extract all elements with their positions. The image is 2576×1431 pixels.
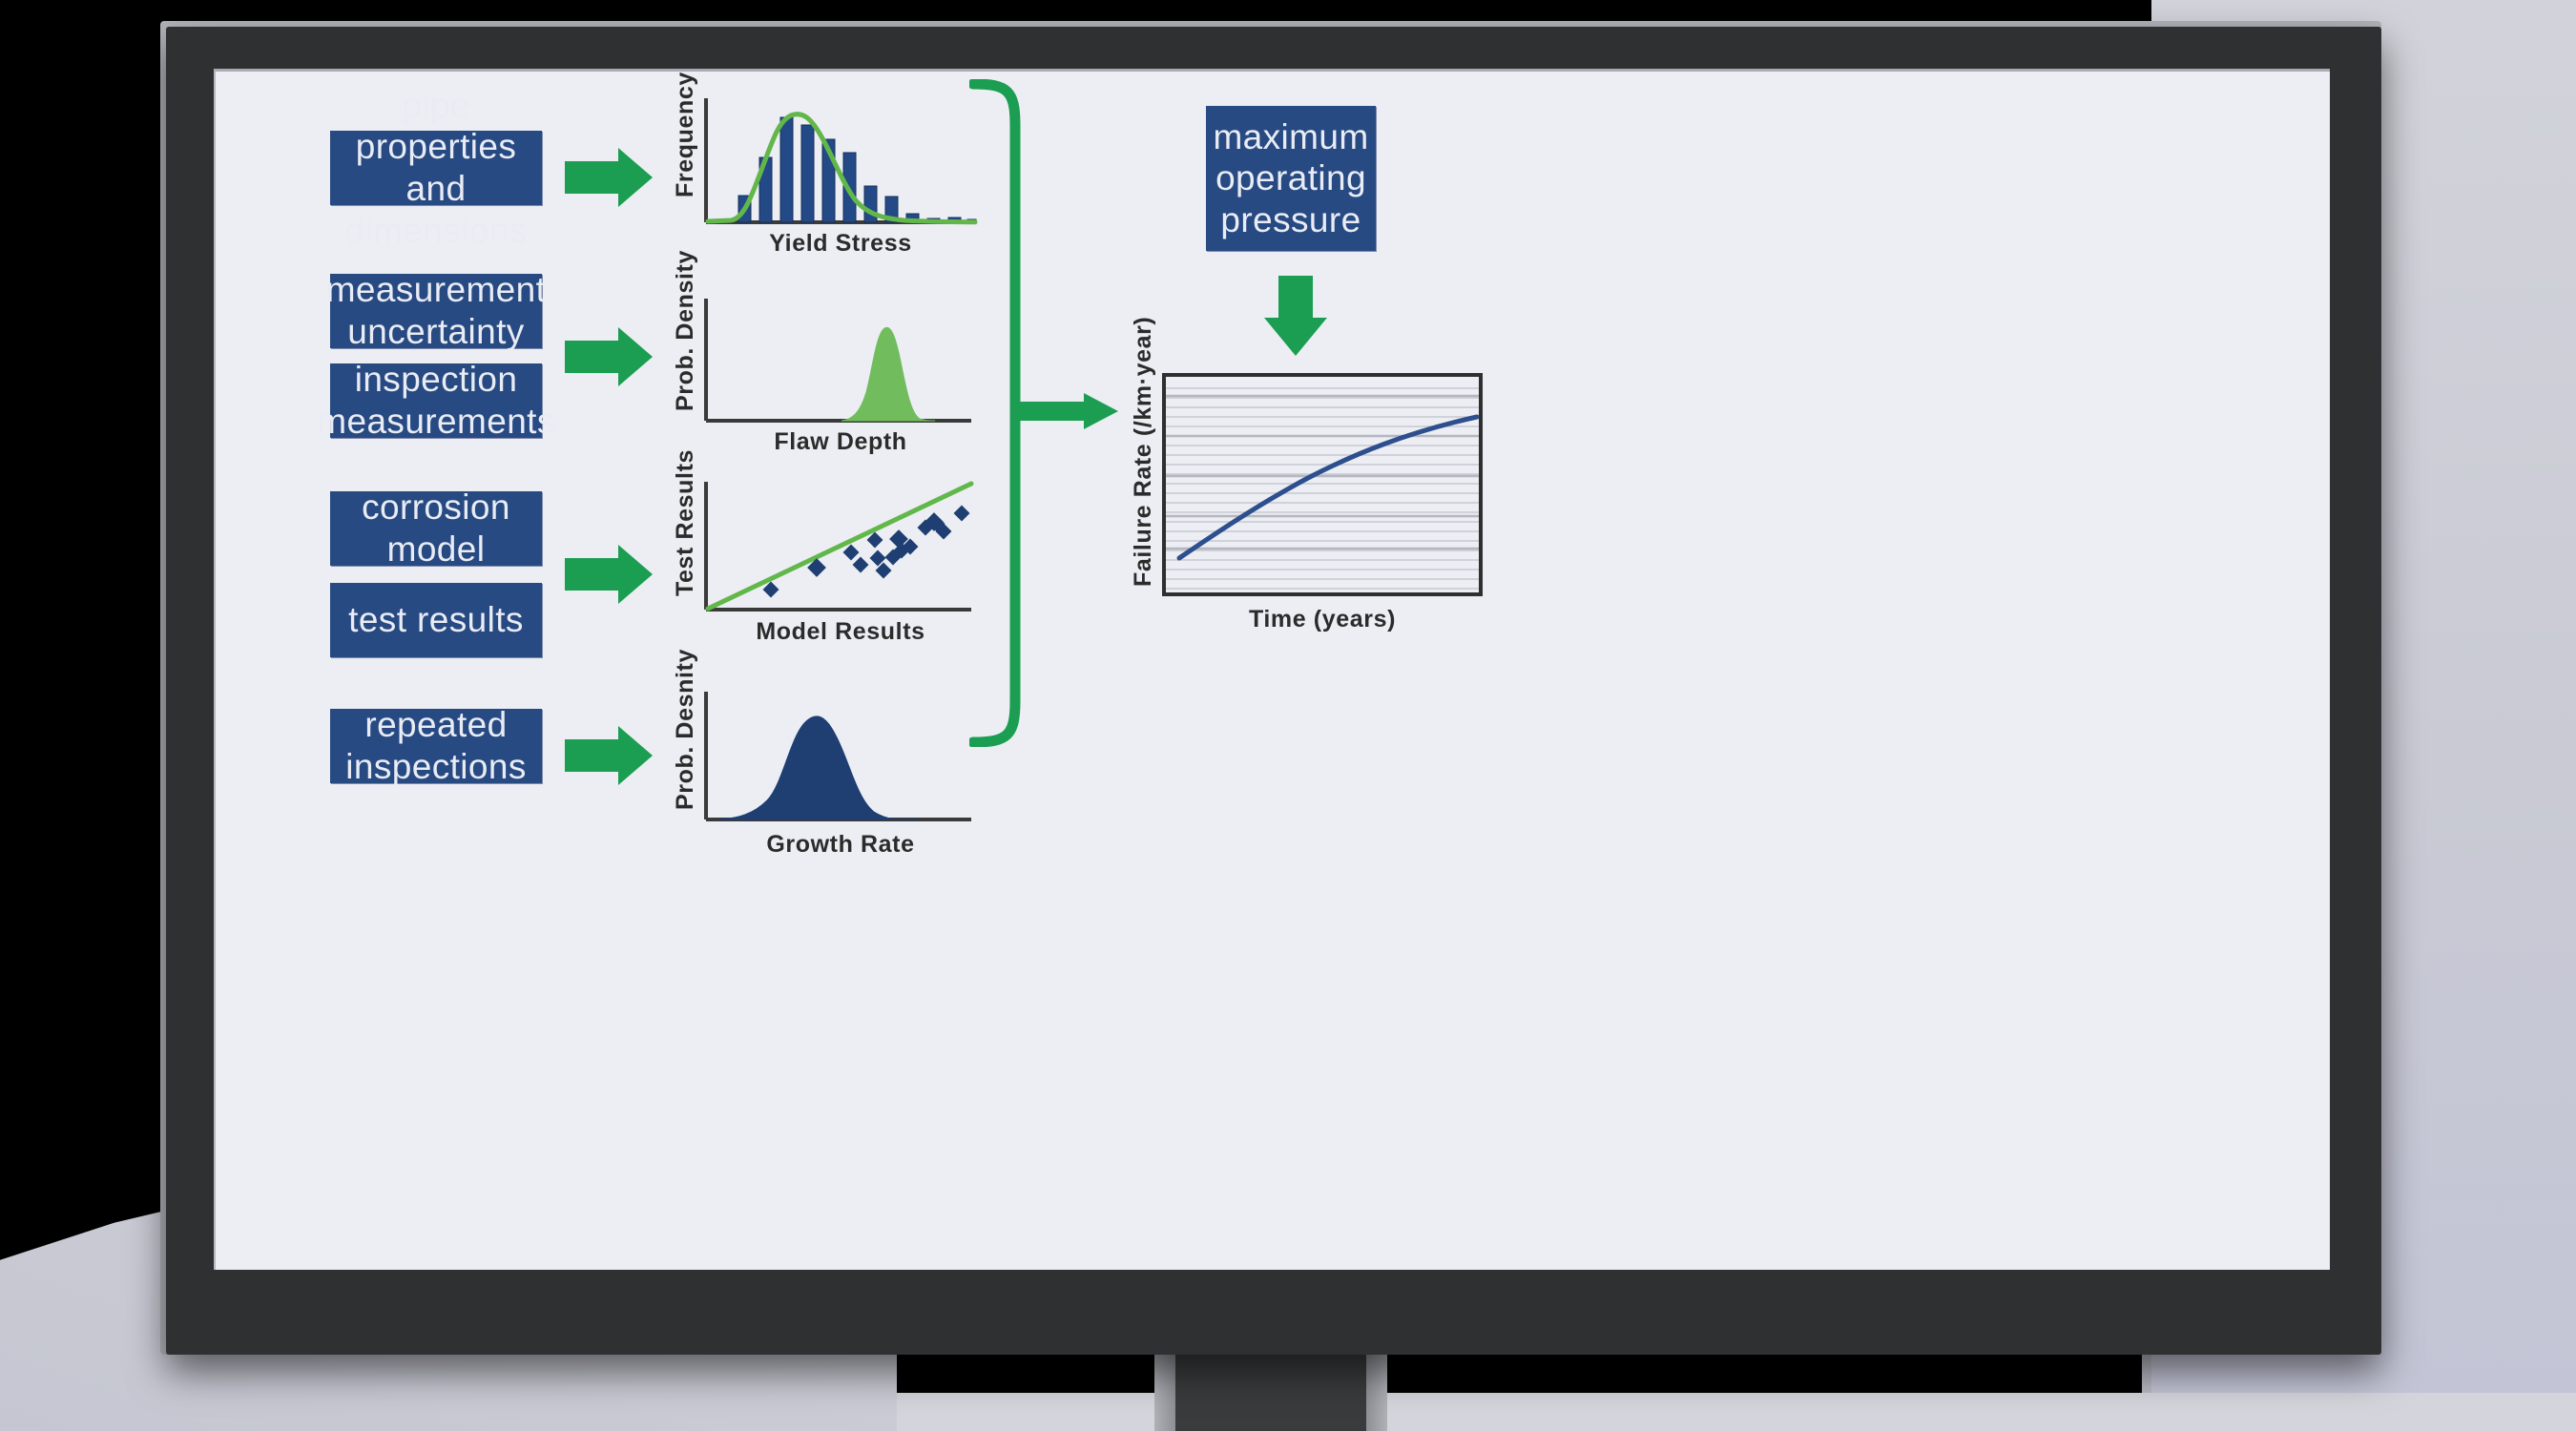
input-box-test-results[interactable]: test results [330, 583, 542, 657]
arrow-to-flaw-depth-icon [565, 327, 653, 386]
chart-yield-stress-histogram: Frequency Yield Stress [664, 91, 979, 262]
monitor: pipe properties and dimensions measureme… [160, 21, 2381, 1355]
input-box-repeated-inspections[interactable]: repeated inspections [330, 709, 542, 783]
scatter-reference-line [708, 484, 971, 609]
chart-model-vs-test-scatter: Test Results Model Results [664, 472, 979, 653]
chart-failure-rate-ylabel: Failure Rate (/km·year) [1130, 317, 1156, 587]
chart-failure-rate-xlabel: Time (years) [1249, 606, 1396, 633]
output-box-line1: maximum [1203, 116, 1378, 158]
input-box-pipe-properties-line1: pipe properties [335, 85, 536, 168]
flaw-depth-area [841, 327, 935, 421]
monitor-stand-neck [1175, 1355, 1366, 1431]
input-box-corrosion-model-label: corrosion model [330, 487, 542, 570]
bracket-arrow-icon [1015, 393, 1118, 429]
input-box-repeated-inspections-line2: inspections [336, 746, 536, 788]
chart-growth-rate-density: Prob. Desnity Growth Rate [664, 682, 979, 863]
input-box-inspection-measurements[interactable]: inspection measurements [330, 363, 542, 438]
output-box-line2: operating [1203, 157, 1378, 199]
arrow-pressure-down-icon [1267, 276, 1324, 356]
chart-failure-rate-vs-time: Failure Rate (/km·year) Time (years) [1122, 367, 1504, 653]
chart-scatter-ylabel: Test Results [672, 449, 698, 596]
flaw-depth-axes [706, 299, 971, 421]
diagram-canvas: pipe properties and dimensions measureme… [216, 72, 2330, 1270]
histogram-normal-curve [708, 114, 975, 222]
chart-yield-stress-ylabel: Frequency [672, 72, 698, 197]
output-box-maximum-operating-pressure[interactable]: maximum operating pressure [1206, 106, 1376, 251]
input-box-measurement-uncertainty-line1: measurement [317, 269, 556, 311]
arrow-to-growth-rate-icon [565, 726, 653, 785]
chart-flaw-depth-xlabel: Flaw Depth [774, 428, 906, 455]
input-box-corrosion-model[interactable]: corrosion model [330, 491, 542, 566]
chart-growth-rate-xlabel: Growth Rate [766, 831, 914, 858]
green-brace-path [973, 84, 1015, 742]
aggregate-bracket [969, 79, 1132, 747]
chart-yield-stress-xlabel: Yield Stress [769, 230, 911, 257]
chart-flaw-depth-density: Prob. Density Flaw Depth [664, 289, 979, 461]
output-box-line3: pressure [1203, 199, 1378, 241]
growth-rate-area [717, 716, 920, 819]
scatter-points [763, 506, 970, 598]
monitor-screen: pipe properties and dimensions measureme… [214, 69, 2330, 1270]
input-box-inspection-measurements-line1: inspection [307, 359, 565, 401]
chart-scatter-xlabel: Model Results [756, 618, 924, 645]
input-box-inspection-measurements-line2: measurements [307, 401, 565, 443]
input-box-measurement-uncertainty-line2: uncertainty [317, 311, 556, 353]
arrow-to-histogram-icon [565, 148, 653, 207]
input-box-measurement-uncertainty[interactable]: measurement uncertainty [330, 274, 542, 348]
input-box-pipe-properties[interactable]: pipe properties and dimensions [330, 131, 542, 205]
input-box-pipe-properties-line2: and dimensions [335, 168, 536, 251]
screenshot-root: pipe properties and dimensions measureme… [0, 0, 2576, 1431]
input-box-test-results-label: test results [339, 599, 533, 641]
chart-growth-rate-ylabel: Prob. Desnity [672, 649, 698, 810]
arrow-to-scatter-icon [565, 545, 653, 604]
input-box-repeated-inspections-line1: repeated [336, 704, 536, 746]
chart-flaw-depth-ylabel: Prob. Density [672, 250, 698, 411]
